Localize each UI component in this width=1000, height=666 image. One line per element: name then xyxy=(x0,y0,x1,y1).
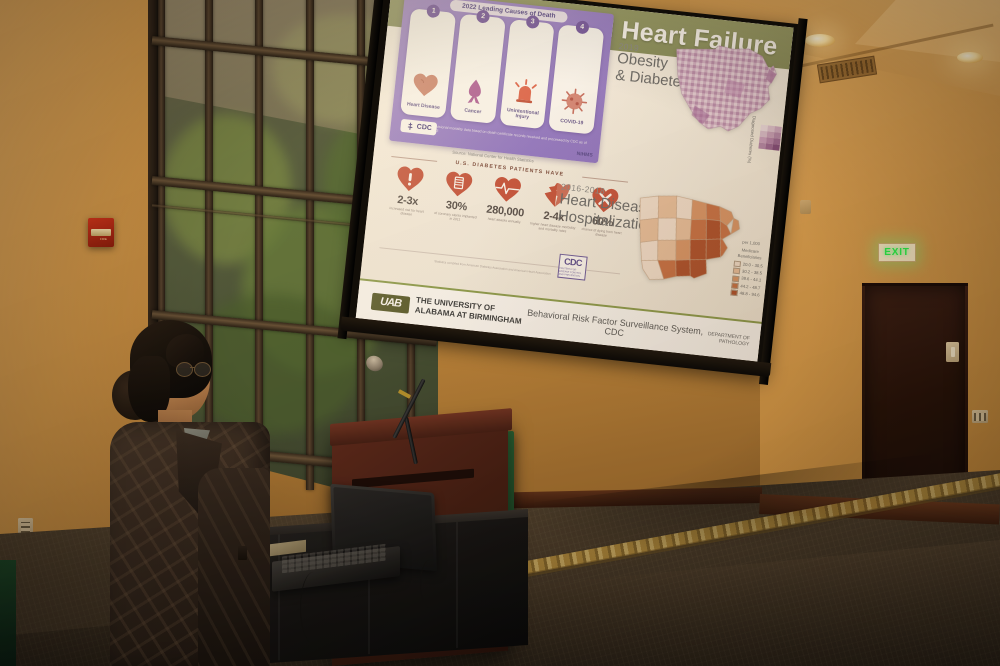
conference-room-photo: FIRE and Heart Failure 2022 Leading Caus… xyxy=(0,0,1000,666)
stat-item-1: 2-3x increased risk for heart disease xyxy=(383,164,434,220)
ceiling-downlight-1 xyxy=(805,34,835,47)
cause-label-3: Unintentional Injury xyxy=(500,107,546,123)
presenter xyxy=(110,318,300,666)
cause-label-4: COVID-19 xyxy=(558,119,586,128)
slide-footer-department: DEPARTMENT OF PATHOLOGY xyxy=(707,331,750,348)
cdc-logo-large-sub: CENTERS FOR DISEASE CONTROL AND PREVENTI… xyxy=(559,266,586,278)
ribbon-icon xyxy=(459,74,492,107)
cause-label-2: Cancer xyxy=(462,109,483,117)
hospitalization-block: 2016-2018 Heart Disease Hospitalization xyxy=(550,181,771,315)
obesity-diabetes-block: 2019 Obesity & Diabetes xyxy=(605,41,786,186)
fire-alarm-label: FIRE xyxy=(100,237,107,241)
cdc-logo-large: CDC CENTERS FOR DISEASE CONTROL AND PREV… xyxy=(557,254,587,281)
cause-label-1: Heart Disease xyxy=(405,102,442,112)
obesity-map-legend xyxy=(758,125,781,151)
wall-speaker-icon xyxy=(800,200,811,214)
stat-item-2: 30% of coronary stents implanted in 2011 xyxy=(432,169,483,225)
cause-card-4: 4 COVID-19 xyxy=(548,24,604,134)
presenter-arm xyxy=(198,468,270,666)
hosp-legend-title-2: Medicare Beneficiaries xyxy=(734,247,765,262)
green-panel-lower xyxy=(0,560,16,666)
projection-screen: and Heart Failure 2022 Leading Causes of… xyxy=(353,0,799,386)
uab-org-name: THE UNIVERSITY OF ALABAMA AT BIRMINGHAM xyxy=(414,296,523,327)
heart-exclamation-icon xyxy=(395,165,426,194)
uab-logo: UAB xyxy=(371,292,411,313)
heart-icon xyxy=(409,69,442,102)
drape-fold xyxy=(456,522,458,648)
cause-card-row: 1 Heart Disease 2 Cancer xyxy=(400,8,604,134)
stats-source: Statistics compiled from American Diabet… xyxy=(434,259,551,276)
hosp-legend-range-5: 48.8 - 94.6 xyxy=(739,290,760,298)
cause-rank-1: 1 xyxy=(427,4,441,18)
name-badge xyxy=(238,546,247,560)
laptop-cable xyxy=(300,572,327,644)
heart-ecg-icon xyxy=(492,175,523,204)
cause-card-3: 3 Unintentional Injury xyxy=(499,19,555,129)
cause-rank-2: 2 xyxy=(476,9,490,23)
presentation-slide: and Heart Failure 2022 Leading Causes of… xyxy=(356,0,794,362)
cause-card-2: 2 Cancer xyxy=(450,14,506,124)
us-choropleth-hospitalization xyxy=(627,182,749,294)
fire-alarm-strobe-icon: FIRE xyxy=(88,218,114,247)
virus-icon xyxy=(557,85,590,118)
alarm-icon xyxy=(509,74,542,107)
light-switch[interactable] xyxy=(946,342,959,362)
cause-card-1: 1 Heart Disease xyxy=(400,8,456,118)
stat-item-3: 280,000 heart attacks annually xyxy=(481,174,532,230)
caduceus-icon xyxy=(405,121,415,131)
podium-cable xyxy=(420,560,439,608)
exit-sign-label: EXIT xyxy=(884,247,909,258)
screen-surface: and Heart Failure 2022 Leading Causes of… xyxy=(356,0,794,362)
heart-stent-icon xyxy=(443,170,474,199)
cdc-leading-causes-infographic: 2022 Leading Causes of Death 1 Heart Dis… xyxy=(389,0,614,163)
ceiling-downlight-2 xyxy=(957,52,983,63)
window-mullion xyxy=(306,0,314,490)
wall-outlet-right xyxy=(972,410,988,423)
hospitalization-legend: per 1,000 Medicare Beneficiaries 20.0 - … xyxy=(730,239,766,300)
exit-sign: EXIT xyxy=(878,243,916,262)
cause-rank-3: 3 xyxy=(525,15,539,29)
cause-rank-4: 4 xyxy=(575,20,589,34)
cdc-logo-large-text: CDC xyxy=(564,257,583,268)
glasses-icon xyxy=(176,362,210,377)
infographic-corner-tag: NIHMS xyxy=(576,151,593,159)
